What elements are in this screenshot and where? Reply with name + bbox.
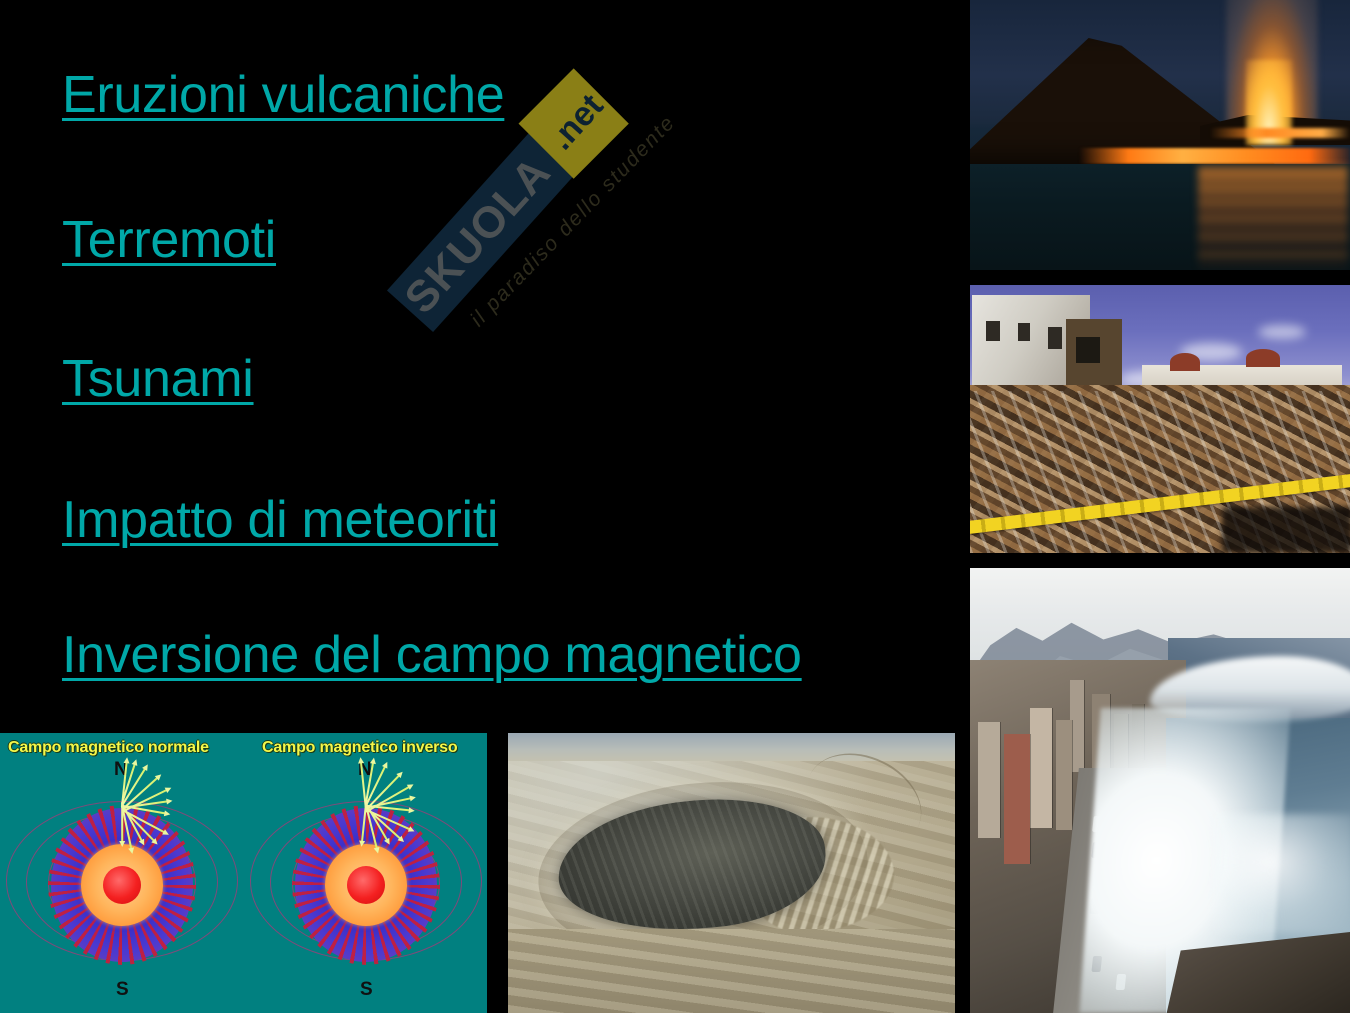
image-tsunami-wave bbox=[970, 568, 1350, 1013]
pole-label-south-normal: S bbox=[116, 979, 129, 1001]
volcano-lava-flow-upper bbox=[1210, 128, 1350, 138]
volcano-lava-flow bbox=[1080, 148, 1350, 164]
bullet-item-tsunami[interactable]: Tsunami bbox=[62, 350, 254, 408]
debris-damaged-building bbox=[1066, 319, 1122, 393]
bullet-item-terremoti[interactable]: Terremoti bbox=[62, 211, 276, 269]
magnetic-panel-title-normal: Campo magnetico normale bbox=[8, 739, 209, 757]
magnetic-globe-inverse: N S bbox=[244, 761, 487, 1011]
image-tsunami-debris bbox=[970, 285, 1350, 553]
bullet-item-inversione-del-campo-magnetico[interactable]: Inversione del campo magnetico bbox=[62, 626, 802, 684]
magnetic-panel-title-inverse: Campo magnetico inverso bbox=[262, 739, 457, 757]
crater-horizon bbox=[508, 733, 955, 761]
tsunami-foam-spray bbox=[1214, 814, 1350, 934]
presentation-slide: SKUOLA .net il paradiso dello studente E… bbox=[0, 0, 1350, 1013]
bullet-item-eruzioni-vulcaniche[interactable]: Eruzioni vulcaniche bbox=[62, 66, 504, 124]
image-volcano-eruption bbox=[970, 0, 1350, 270]
debris-dark-area bbox=[1222, 507, 1350, 553]
bullet-item-impatto-di-meteoriti[interactable]: Impatto di meteoriti bbox=[62, 491, 498, 549]
crater-foreground bbox=[508, 929, 955, 1013]
pole-label-south-inverse: S bbox=[360, 979, 373, 1001]
image-magnetic-field-diagram: Campo magnetico normale Campo magnetico … bbox=[0, 733, 487, 1013]
volcano-lava-reflection bbox=[1198, 166, 1348, 270]
image-meteor-crater bbox=[508, 733, 955, 1013]
magnetic-globe-normal: N S bbox=[0, 761, 244, 1011]
bullet-list: Eruzioni vulcaniche Terremoti Tsunami Im… bbox=[0, 0, 960, 720]
